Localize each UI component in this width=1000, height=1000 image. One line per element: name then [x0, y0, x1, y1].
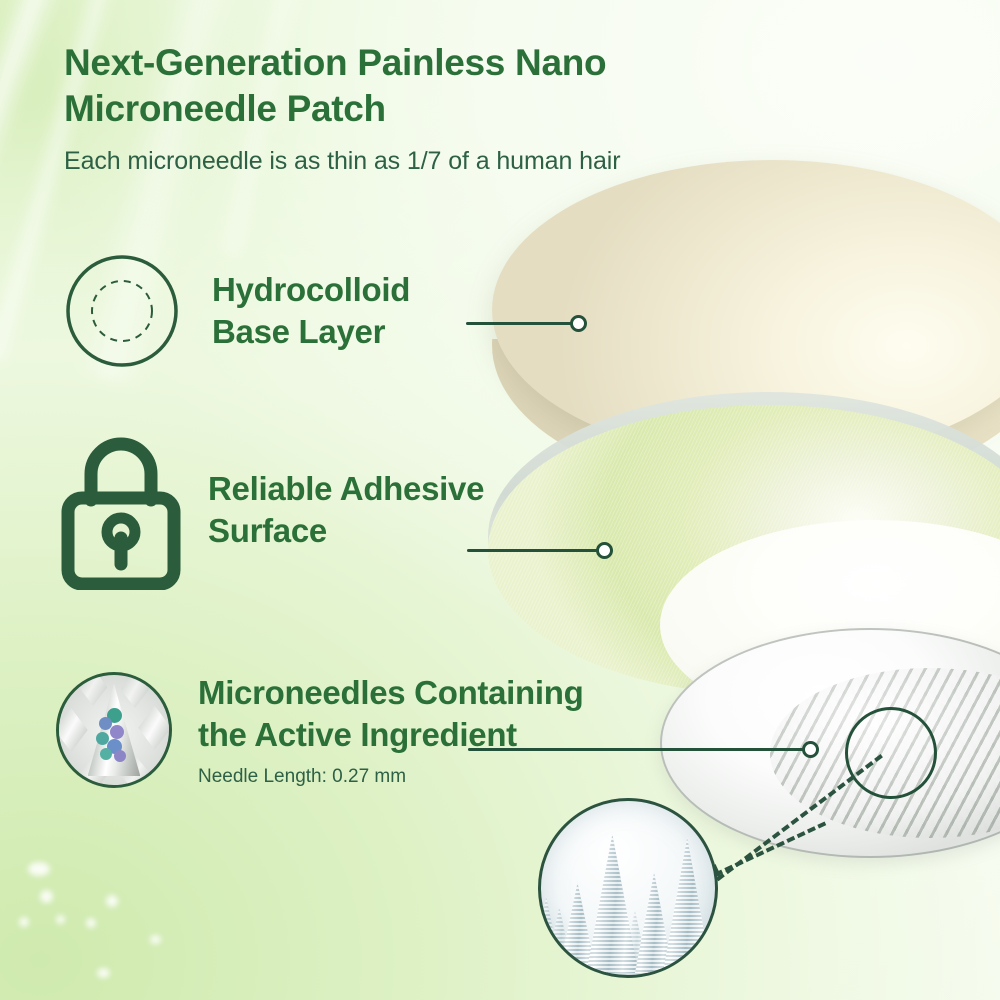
callout-dot-adhesive [596, 542, 613, 559]
needle-focus-ring [845, 707, 937, 799]
callout-lines [0, 0, 1000, 1000]
magnified-needle [663, 837, 712, 973]
callout-line-microneedles [468, 748, 810, 751]
callout-dot-microneedles [802, 741, 819, 758]
callout-dot-hydrocolloid [570, 315, 587, 332]
magnified-needle [586, 834, 638, 973]
callout-line-adhesive [467, 549, 604, 552]
callout-line-hydrocolloid [466, 322, 578, 325]
microneedle-magnified-view [538, 798, 718, 978]
